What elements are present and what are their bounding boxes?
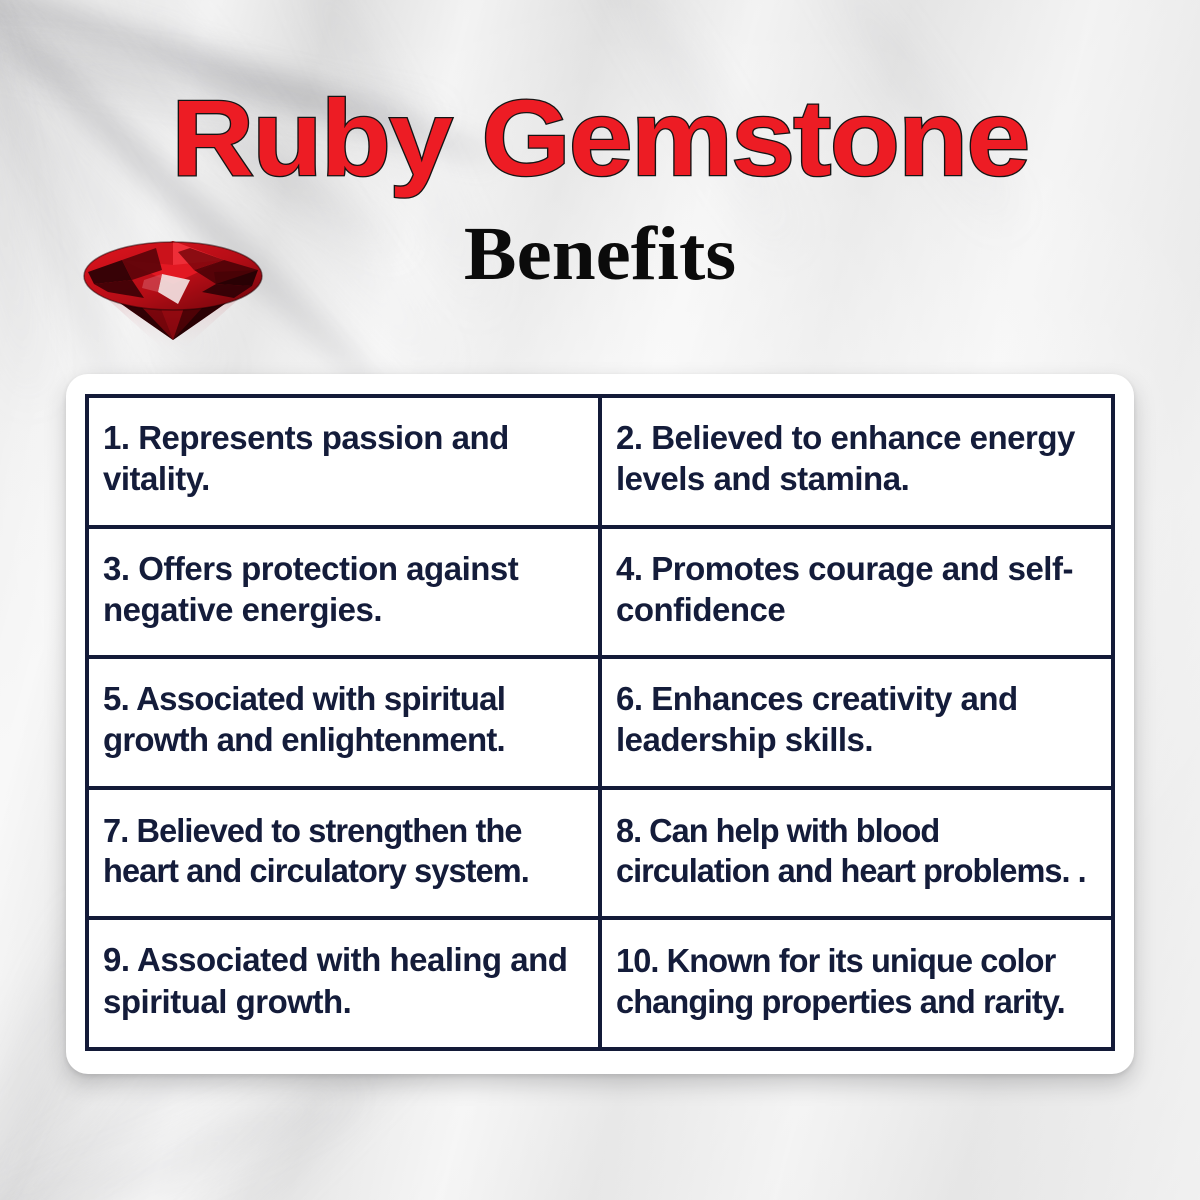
benefit-cell-3[interactable]: 3. Offers protection against negative en… [87, 527, 600, 658]
benefit-cell-9[interactable]: 9. Associated with healing and spiritual… [87, 918, 600, 1049]
benefit-cell-8[interactable]: 8. Can help with blood circulation and h… [600, 788, 1113, 919]
table-row: 1. Represents passion and vitality. 2. B… [87, 396, 1113, 527]
infographic-poster: Ruby Gemstone Benefits [0, 0, 1200, 1200]
page-title: Ruby Gemstone [0, 84, 1200, 192]
benefit-text: 8. Can help with blood circulation and h… [616, 811, 1090, 892]
table-row: 5. Associated with spiritual growth and … [87, 657, 1113, 788]
benefit-text: 1. Represents passion and vitality. [103, 418, 577, 500]
table-row: 9. Associated with healing and spiritual… [87, 918, 1113, 1049]
benefit-text: 6. Enhances creativity and leadership sk… [616, 679, 1090, 761]
benefit-text: 4. Promotes courage and self-confidence [616, 549, 1090, 631]
benefit-cell-10[interactable]: 10. Known for its unique color changing … [600, 918, 1113, 1049]
benefit-cell-1[interactable]: 1. Represents passion and vitality. [87, 396, 600, 527]
ruby-gemstone-image [74, 218, 272, 368]
benefit-cell-2[interactable]: 2. Believed to enhance energy levels and… [600, 396, 1113, 527]
benefit-text: 5. Associated with spiritual growth and … [103, 679, 577, 761]
ruby-gemstone-icon [74, 218, 272, 368]
benefit-cell-7[interactable]: 7. Believed to strengthen the heart and … [87, 788, 600, 919]
benefit-text: 10. Known for its unique color changing … [616, 941, 1090, 1022]
benefit-cell-6[interactable]: 6. Enhances creativity and leadership sk… [600, 657, 1113, 788]
table-row: 7. Believed to strengthen the heart and … [87, 788, 1113, 919]
benefit-text: 2. Believed to enhance energy levels and… [616, 418, 1090, 500]
table-row: 3. Offers protection against negative en… [87, 527, 1113, 658]
benefit-cell-5[interactable]: 5. Associated with spiritual growth and … [87, 657, 600, 788]
benefit-cell-4[interactable]: 4. Promotes courage and self-confidence [600, 527, 1113, 658]
benefit-text: 3. Offers protection against negative en… [103, 549, 577, 631]
benefits-table: 1. Represents passion and vitality. 2. B… [85, 394, 1115, 1051]
benefit-text: 9. Associated with healing and spiritual… [103, 940, 577, 1022]
benefits-card: 1. Represents passion and vitality. 2. B… [66, 374, 1134, 1074]
benefit-text: 7. Believed to strengthen the heart and … [103, 811, 577, 892]
